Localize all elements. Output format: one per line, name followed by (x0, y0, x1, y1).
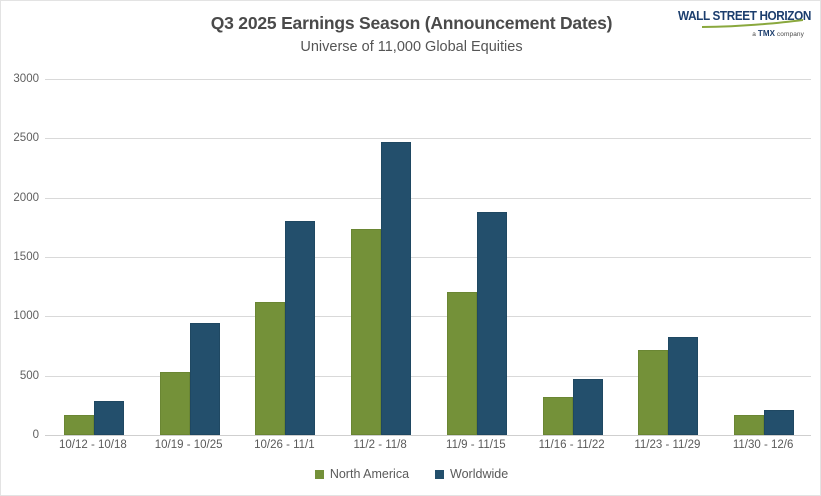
bar-group (45, 79, 141, 435)
x-axis-tick-label: 10/26 - 11/1 (254, 439, 315, 451)
x-axis-tick-label: 10/12 - 10/18 (59, 439, 127, 451)
wall-street-horizon-logo: WALL STREET HORIZON a TMX company (678, 9, 804, 43)
bar-north-america[interactable] (734, 415, 764, 435)
x-axis-tick-label: 11/16 - 11/22 (539, 439, 605, 451)
x-axis-tick-label: 11/23 - 11/29 (634, 439, 700, 451)
bar-north-america[interactable] (160, 372, 190, 435)
bar-group (524, 79, 620, 435)
y-axis-tick-label: 500 (1, 370, 39, 382)
logo-swoosh-icon (702, 19, 804, 28)
legend-swatch-icon (315, 470, 324, 479)
bar-north-america[interactable] (64, 415, 94, 435)
legend-label: North America (330, 467, 409, 481)
x-axis-tick-label: 11/2 - 11/8 (353, 439, 406, 451)
bar-worldwide[interactable] (573, 379, 603, 435)
bar-worldwide[interactable] (285, 221, 315, 435)
bar-north-america[interactable] (255, 302, 285, 435)
x-axis-tick-labels: 10/12 - 10/1810/19 - 10/2510/26 - 11/111… (45, 439, 811, 461)
bar-north-america[interactable] (543, 397, 573, 435)
legend-swatch-icon (435, 470, 444, 479)
gridline (45, 435, 811, 436)
bar-group (715, 79, 811, 435)
bar-worldwide[interactable] (381, 142, 411, 435)
y-axis-tick-label: 0 (1, 429, 39, 441)
x-axis-tick-label: 11/9 - 11/15 (446, 439, 506, 451)
x-axis-tick-label: 11/30 - 12/6 (733, 439, 794, 451)
bars-layer (45, 79, 811, 435)
y-axis-tick-label: 2000 (1, 192, 39, 204)
y-axis-tick-label: 2500 (1, 132, 39, 144)
bar-worldwide[interactable] (477, 212, 507, 435)
bar-worldwide[interactable] (668, 337, 698, 435)
bar-worldwide[interactable] (190, 323, 220, 435)
chart-legend: North AmericaWorldwide (1, 467, 821, 481)
legend-item[interactable]: Worldwide (435, 467, 508, 481)
tmx-mark: TMX (758, 29, 775, 38)
bar-group (237, 79, 333, 435)
x-axis-tick-label: 10/19 - 10/25 (155, 439, 223, 451)
bar-group (141, 79, 237, 435)
y-axis-tick-label: 1500 (1, 251, 39, 263)
y-axis-tick-labels: 050010001500200025003000 (1, 79, 39, 435)
y-axis-tick-label: 1000 (1, 310, 39, 322)
chart-card: Q3 2025 Earnings Season (Announcement Da… (0, 0, 821, 496)
legend-label: Worldwide (450, 467, 508, 481)
bar-group (332, 79, 428, 435)
bar-north-america[interactable] (351, 229, 381, 435)
logo-tagline: a TMX company (752, 29, 804, 38)
logo-tagline-suffix: company (775, 31, 804, 38)
y-axis-tick-label: 3000 (1, 73, 39, 85)
bar-group (620, 79, 716, 435)
bar-north-america[interactable] (638, 350, 668, 435)
bar-worldwide[interactable] (764, 410, 794, 435)
bar-north-america[interactable] (447, 292, 477, 435)
bar-worldwide[interactable] (94, 401, 124, 435)
bar-group (428, 79, 524, 435)
legend-item[interactable]: North America (315, 467, 409, 481)
